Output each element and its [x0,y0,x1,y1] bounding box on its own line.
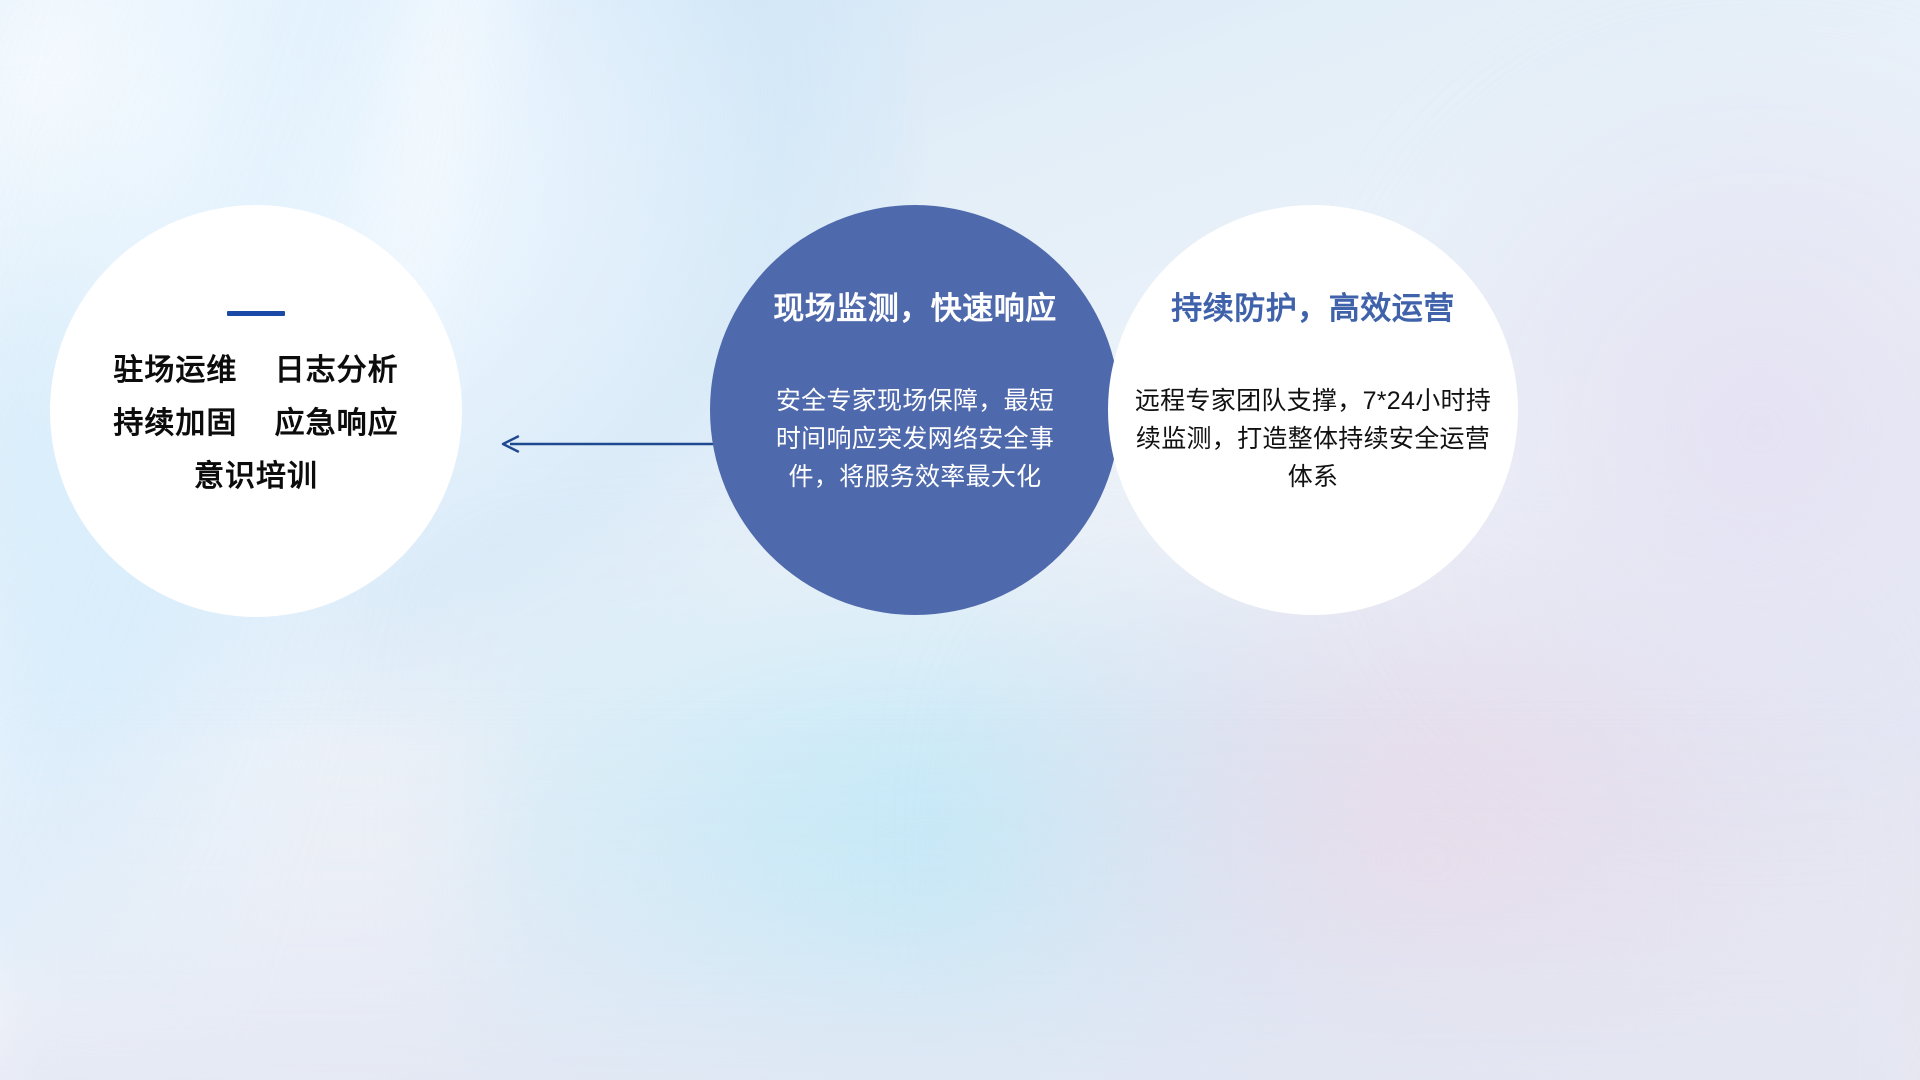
middle-circle-body: 安全专家现场保障，最短时间响应突发网络安全事件，将服务效率最大化 [765,382,1065,496]
left-circle-content: 驻场运维 日志分析 持续加固 应急响应 意识培训 [50,205,462,617]
capability-line-2: 持续加固 应急响应 [113,409,398,439]
capability-circle-middle[interactable]: 现场监测，快速响应 安全专家现场保障，最短时间响应突发网络安全事件，将服务效率最… [710,205,1120,615]
capability-circle-right[interactable]: 持续防护，高效运营 远程专家团队支撑，7*24小时持续监测，打造整体持续安全运营… [1108,205,1518,615]
right-circle-title: 持续防护，高效运营 [1171,293,1455,324]
right-circle-body: 远程专家团队支撑，7*24小时持续监测，打造整体持续安全运营体系 [1128,382,1498,496]
divider-dash [227,311,285,316]
capability-line-3: 意识培训 [194,462,318,492]
capability-list: 驻场运维 日志分析 持续加固 应急响应 意识培训 [113,356,398,492]
background-bottom-haze [0,720,1920,1080]
middle-circle-content: 现场监测，快速响应 安全专家现场保障，最短时间响应突发网络安全事件，将服务效率最… [680,205,1150,615]
right-circle-content: 持续防护，高效运营 远程专家团队支撑，7*24小时持续监测，打造整体持续安全运营… [1108,205,1518,615]
slide-canvas: 驻场运维 日志分析 持续加固 应急响应 意识培训 现场监测，快速响应 安全专家现… [0,0,1920,1080]
middle-circle-title: 现场监测，快速响应 [773,293,1057,324]
capability-line-1: 驻场运维 日志分析 [113,356,398,386]
capability-circle-left[interactable]: 驻场运维 日志分析 持续加固 应急响应 意识培训 [50,205,462,617]
